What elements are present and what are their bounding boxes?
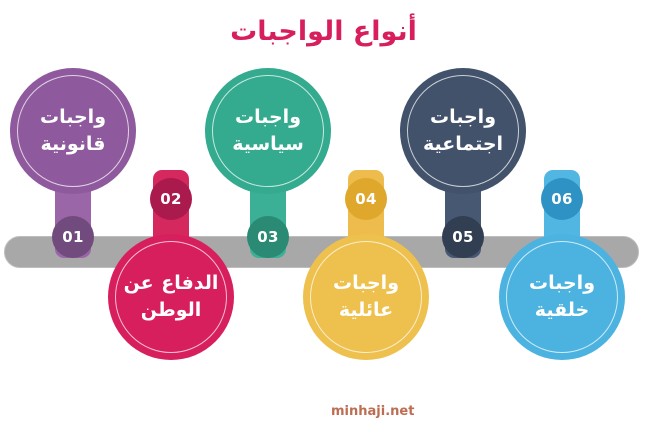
node-bubble-05[interactable]: واجبات اجتماعية: [400, 68, 526, 194]
node-bubble-06[interactable]: واجبات خلقية: [499, 234, 625, 360]
node-bubble-04[interactable]: واجبات عائلية: [303, 234, 429, 360]
node-number-badge-02[interactable]: 02: [150, 178, 192, 220]
infographic-canvas: أنواع الواجبات واجبات قانونية01الدفاع عن…: [0, 0, 647, 447]
node-label-04: واجبات عائلية: [314, 270, 418, 324]
node-bubble-01[interactable]: واجبات قانونية: [10, 68, 136, 194]
node-label-05: واجبات اجتماعية: [411, 104, 515, 158]
page-title: أنواع الواجبات: [0, 16, 647, 47]
node-number-badge-05[interactable]: 05: [442, 216, 484, 258]
node-number-badge-01[interactable]: 01: [52, 216, 94, 258]
node-number-badge-04[interactable]: 04: [345, 178, 387, 220]
node-label-01: واجبات قانونية: [21, 104, 125, 158]
site-watermark: minhaji.net: [331, 404, 414, 419]
node-bubble-03[interactable]: واجبات سياسية: [205, 68, 331, 194]
node-number-badge-06[interactable]: 06: [541, 178, 583, 220]
node-label-06: واجبات خلقية: [510, 270, 614, 324]
node-label-02: الدفاع عن الوطن: [119, 270, 223, 324]
node-bubble-02[interactable]: الدفاع عن الوطن: [108, 234, 234, 360]
node-label-03: واجبات سياسية: [216, 104, 320, 158]
node-number-badge-03[interactable]: 03: [247, 216, 289, 258]
